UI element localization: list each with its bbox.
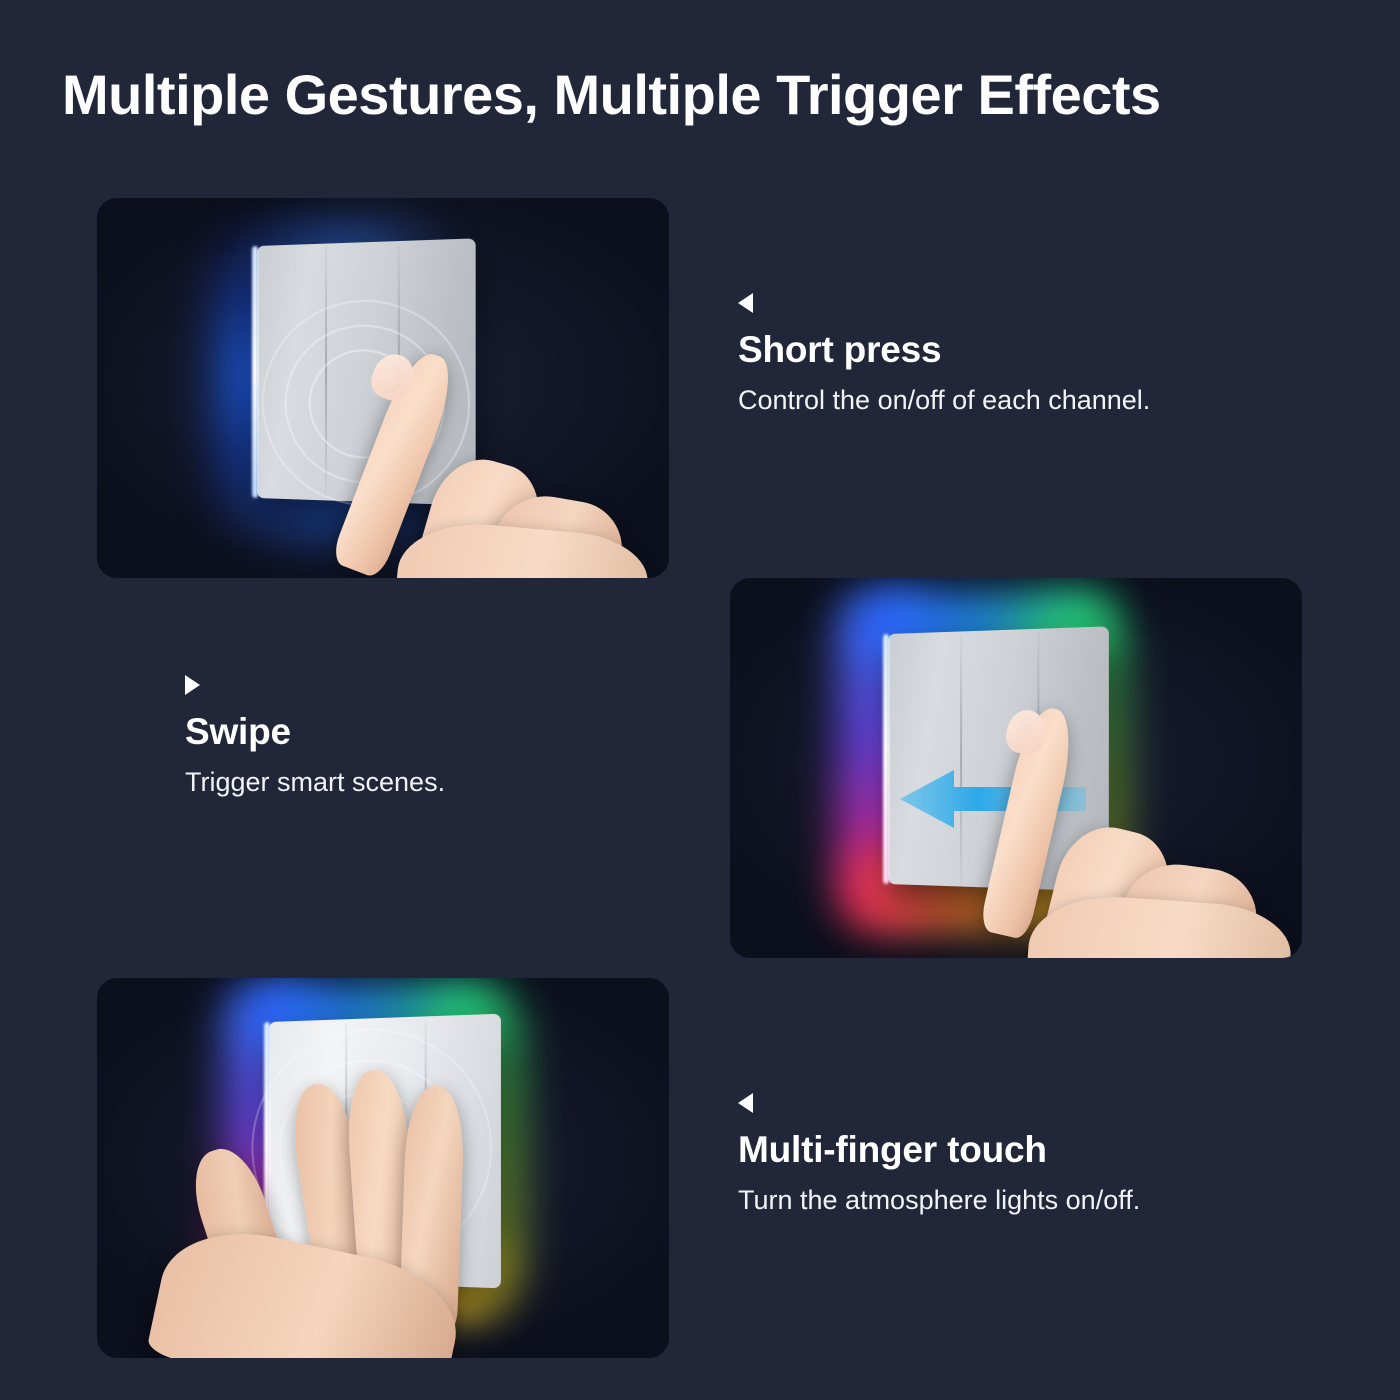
- feature-description: Turn the atmosphere lights on/off.: [738, 1185, 1140, 1216]
- feature-description: Control the on/off of each channel.: [738, 385, 1150, 416]
- channel-seam: [960, 634, 962, 883]
- feature-caption-multi-finger-touch: Multi-finger touch Turn the atmosphere l…: [738, 1093, 1140, 1216]
- triangle-left-icon: [738, 1093, 753, 1113]
- feature-heading: Short press: [738, 329, 1150, 371]
- feature-image-swipe: [730, 578, 1302, 958]
- triangle-left-icon: [738, 293, 753, 313]
- feature-caption-swipe: Swipe Trigger smart scenes.: [185, 675, 445, 798]
- led-rim: [252, 246, 258, 498]
- feature-caption-short-press: Short press Control the on/off of each c…: [738, 293, 1150, 416]
- feature-heading: Multi-finger touch: [738, 1129, 1140, 1171]
- page-title: Multiple Gestures, Multiple Trigger Effe…: [62, 62, 1352, 127]
- feature-image-short-press: [97, 198, 669, 578]
- feature-description: Trigger smart scenes.: [185, 767, 445, 798]
- feature-image-multi-finger-touch: [97, 978, 669, 1358]
- triangle-right-icon: [185, 675, 200, 695]
- led-rim: [883, 634, 889, 884]
- feature-heading: Swipe: [185, 711, 445, 753]
